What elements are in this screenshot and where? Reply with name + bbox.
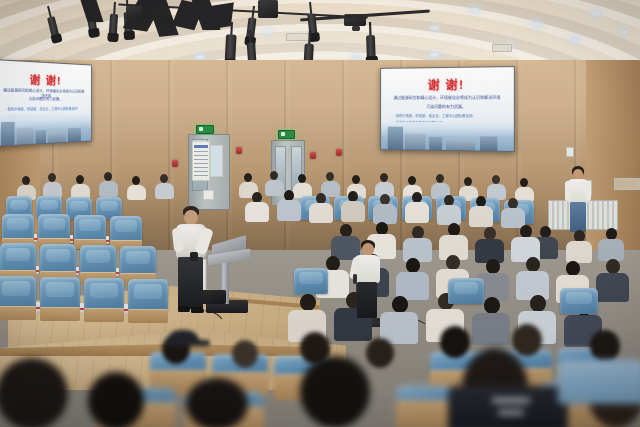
right-projection-screen: 谢 谢! 通过能源研究和精心设计，环境催化必将成为认识和解决环境 污染问题的有力… [380,66,515,152]
downlight [591,12,600,16]
ceiling-vent [492,44,512,52]
presenter-shoe [178,306,190,312]
presenter-shoe [191,307,204,313]
fire-alarm-icon [336,149,342,156]
slide-title-right: 谢 谢! [381,75,514,93]
left-projection-screen: 谢 谢! 通过能源研究和精心设计，环境催化必将成为认识和解决环境 污染问题的有力… [0,59,92,147]
baseball-cap [166,330,200,346]
exit-sign-icon [196,125,214,134]
ceiling-speaker [258,0,278,18]
slide-bullet1-right: · 我的中电部、科技部、省企业、工程中心团队教支持! [394,114,503,120]
slide-body-right: 通过能源研究和精心设计，环境催化必将成为认识和解决环境 [389,95,506,101]
slide-right: 谢 谢! 通过能源研究和精心设计，环境催化必将成为认识和解决环境 污染问题的有力… [381,67,514,151]
foreground-person-blue-shirt [558,360,640,404]
downlight [470,8,479,12]
ceiling-vent [286,33,310,41]
slide-body2-left: 污染问题的有力武器。 [1,97,86,103]
exit-sign-icon [278,130,295,139]
slide-photo-left [0,113,91,145]
projector-lens [352,26,360,31]
ceiling-speaker [126,6,142,20]
slide-body2-right: 污染问题的有力武器。 [389,104,506,110]
slide-title-left: 谢 谢! [0,70,91,89]
slide-photo-right [381,122,514,151]
downlight [619,30,628,34]
presenter-trousers [178,257,203,309]
cap-brim [196,340,210,346]
presenter-at-podium [172,206,210,314]
downlight [533,22,542,26]
downlight [570,38,579,42]
tshirt-print [492,398,530,403]
standing-person-right-wall [565,166,591,232]
standing-person-with-microphone [352,240,382,320]
fire-alarm-icon [310,152,316,159]
fire-alarm-icon [236,147,242,154]
presenter-belt-pack [190,252,198,261]
slide-bullet1-left: · 我的中电部、科技部、省企业、工程中心团队教支持! [5,107,84,113]
slide-left: 谢 谢! 通过能源研究和精心设计，环境催化必将成为认识和解决环境 污染问题的有力… [0,60,91,146]
downlight [430,26,439,30]
fire-alarm-icon [172,160,178,167]
downlight [262,30,271,34]
lecture-hall-photo: 谢 谢! 通过能源研究和精心设计，环境催化必将成为认识和解决环境 污染问题的有力… [0,0,640,427]
downlight [196,55,205,59]
wall-sensor [566,147,574,157]
downlight [430,53,439,57]
